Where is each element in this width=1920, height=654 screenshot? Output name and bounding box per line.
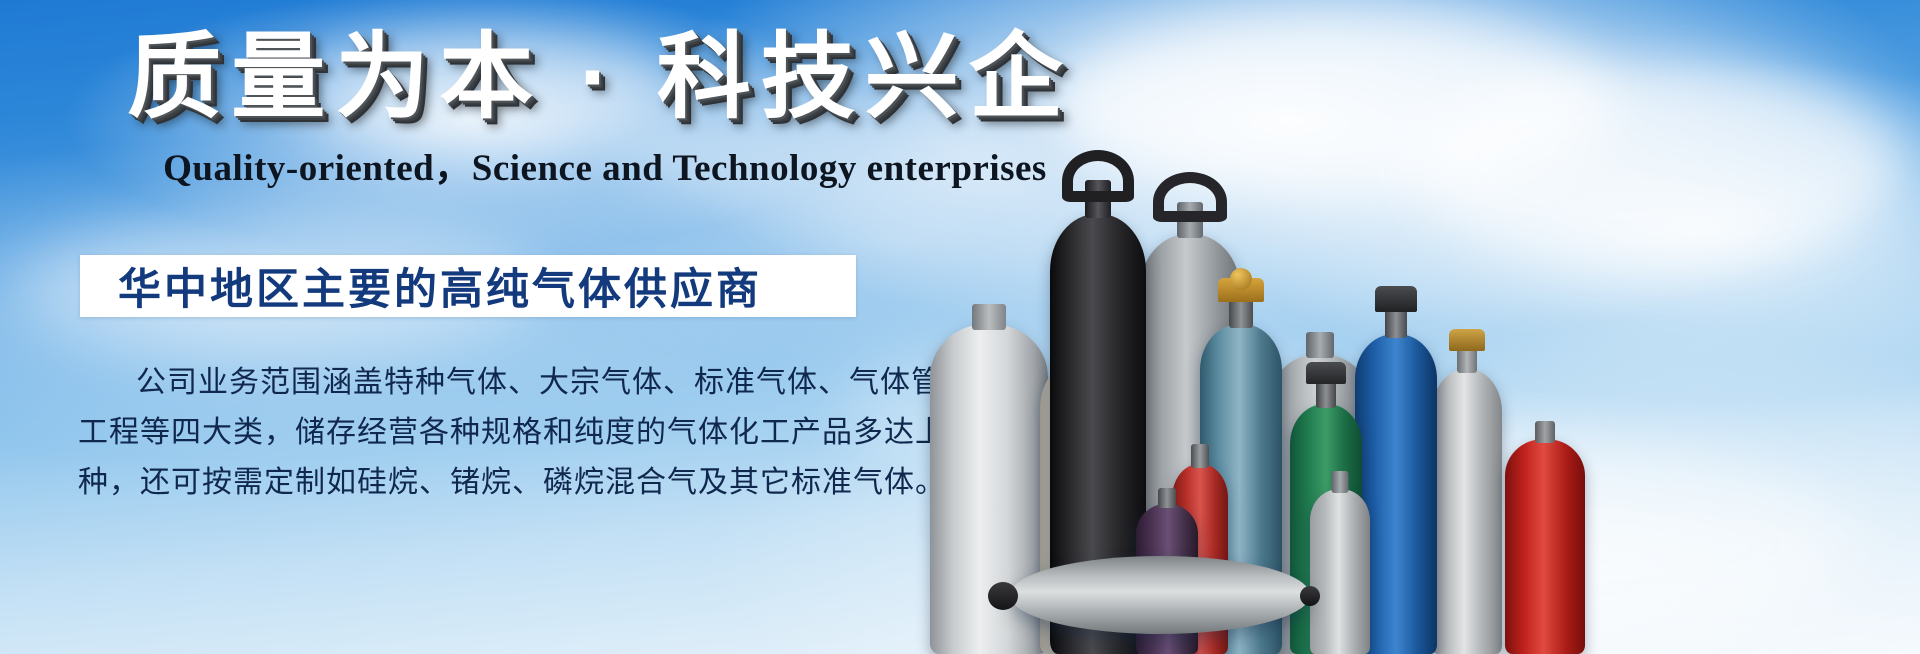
highlight-band-text: 华中地区主要的高纯气体供应商 bbox=[80, 255, 762, 317]
body-line: 公司业务范围涵盖特种气体、大宗气体、标准气体、气体管道 bbox=[78, 358, 878, 408]
silver-small-cylinder bbox=[1310, 489, 1370, 654]
body-line: 种，还可按需定制如硅烷、锗烷、磷烷混合气及其它标准气体。 bbox=[78, 458, 878, 508]
aluminium-cylinder bbox=[1432, 369, 1502, 654]
hero-banner: 质量为本 · 科技兴企 Quality-oriented，Science and… bbox=[0, 0, 1920, 654]
gas-cylinder-group-image bbox=[900, 0, 1920, 654]
red-short-cylinder bbox=[1505, 439, 1585, 654]
horizontal-tank bbox=[1010, 556, 1310, 634]
banner-body-copy: 公司业务范围涵盖特种气体、大宗气体、标准气体、气体管道 工程等四大类，储存经营各… bbox=[78, 358, 878, 508]
highlight-band: 华中地区主要的高纯气体供应商 bbox=[80, 255, 856, 317]
body-line: 工程等四大类，储存经营各种规格和纯度的气体化工产品多达上百 bbox=[78, 408, 878, 458]
